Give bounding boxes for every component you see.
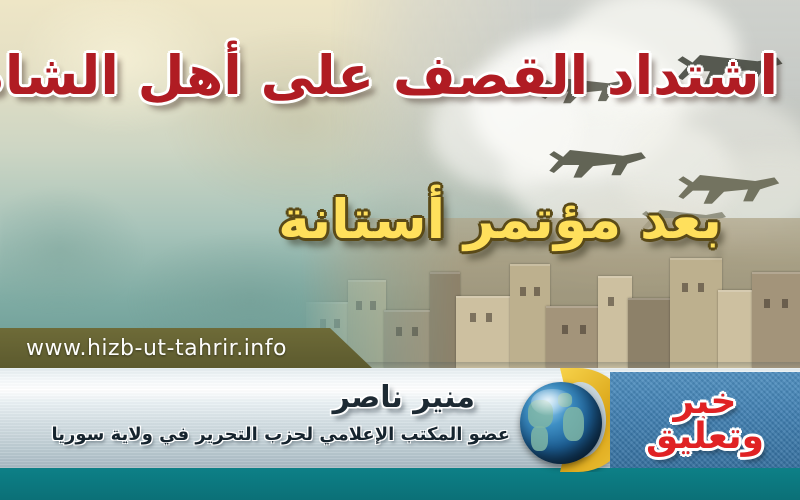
news-banner-image: اشتداد القصف على أهل الشام بعد مؤتمر أست… [0,0,800,500]
status-badge: خبر وتعليق [610,372,800,468]
badge-line-2: وتعليق [646,419,764,456]
headline-line-1: اشتداد القصف على أهل الشام [0,44,778,107]
website-url-band[interactable]: www.hizb-ut-tahrir.info [0,328,372,368]
author-title: عضو المكتب الإعلامي لحزب التحرير في ولاي… [52,424,511,445]
headline-line-2: بعد مؤتمر أستانة [278,188,722,251]
banner-photo: اشتداد القصف على أهل الشام بعد مؤتمر أست… [0,0,800,368]
globe-icon [520,382,602,464]
website-url-text: www.hizb-ut-tahrir.info [0,336,287,361]
globe-logo [512,372,622,472]
footer-teal-strip [0,468,800,500]
author-name: منير ناصر [333,380,475,415]
